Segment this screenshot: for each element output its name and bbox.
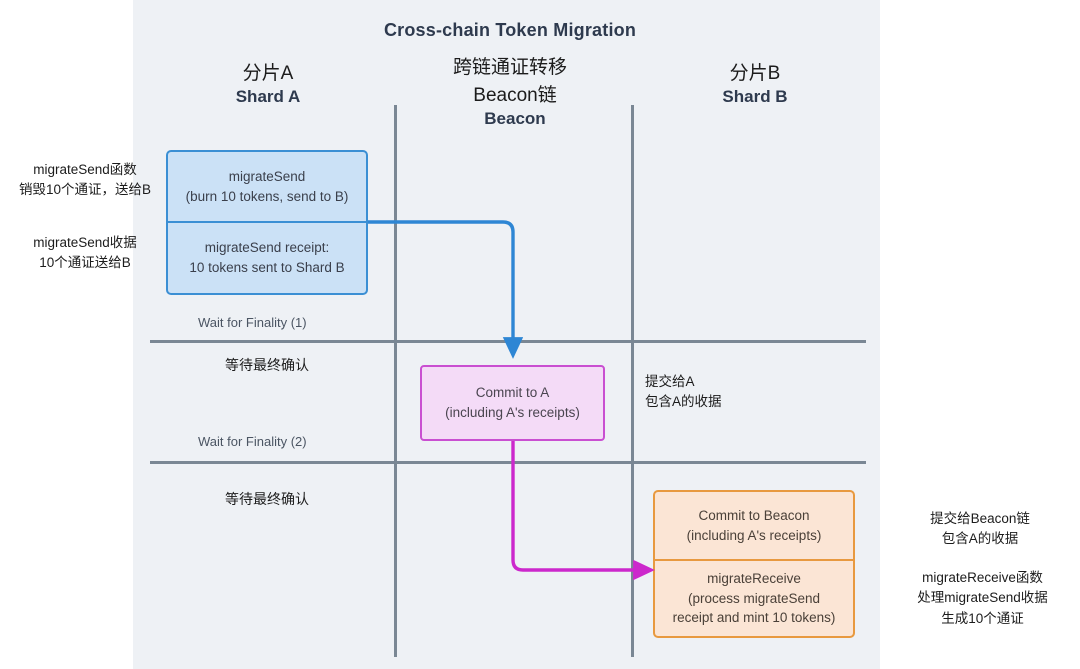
phase-divider-1 (150, 340, 866, 343)
column-header-beacon: Beacon链 Beacon (415, 84, 615, 129)
column-header-shard-b: 分片B Shard B (655, 62, 855, 107)
node-commit-to-beacon-line2: (including A's receipts) (687, 526, 822, 546)
node-commit-to-beacon-line1: Commit to Beacon (698, 506, 809, 526)
node-migrate-receive-line1: migrateReceive (707, 569, 801, 589)
annotation-migrate-receive-line3: 生成10个通证 (890, 609, 1075, 629)
annotation-commit-to-beacon-line2: 包含A的收据 (890, 529, 1070, 549)
node-migrate-send-line2: (burn 10 tokens, send to B) (186, 187, 349, 207)
node-migrate-receive[interactable]: migrateReceive (process migrateSend rece… (653, 560, 855, 638)
node-migrate-receive-line2: (process migrateSend (688, 589, 820, 609)
column-header-beacon-cn: Beacon链 (415, 84, 615, 108)
annotation-migrate-receive-line1: migrateReceive函数 (890, 568, 1075, 588)
label-wait-for-finality-2-cn: 等待最终确认 (225, 489, 309, 509)
annotation-commit-to-beacon: 提交给Beacon链 包含A的收据 (890, 509, 1070, 550)
phase-divider-2 (150, 461, 866, 464)
diagram-canvas: Cross-chain Token Migration 跨链通证转移 分片A S… (0, 0, 1080, 669)
node-migrate-send-receipt[interactable]: migrateSend receipt: 10 tokens sent to S… (166, 222, 368, 295)
node-migrate-send-receipt-line1: migrateSend receipt: (205, 238, 330, 258)
node-migrate-send[interactable]: migrateSend (burn 10 tokens, send to B) (166, 150, 368, 222)
column-header-beacon-en: Beacon (415, 108, 615, 129)
lane-divider-shard-a-beacon (394, 105, 397, 657)
page-title: Cross-chain Token Migration (280, 20, 740, 41)
annotation-commit-to-beacon-line1: 提交给Beacon链 (890, 509, 1070, 529)
node-commit-to-beacon[interactable]: Commit to Beacon (including A's receipts… (653, 490, 855, 560)
annotation-migrate-send-receipt-line2: 10个通证送给B (10, 253, 160, 273)
node-commit-to-a-line2: (including A's receipts) (445, 403, 580, 423)
annotation-migrate-send: migrateSend函数 销毁10个通证，送给B (10, 160, 160, 201)
node-migrate-send-receipt-line2: 10 tokens sent to Shard B (189, 258, 344, 278)
column-header-shard-b-en: Shard B (655, 86, 855, 107)
annotation-commit-to-a-line1: 提交给A (645, 372, 785, 392)
label-wait-for-finality-1-cn: 等待最终确认 (225, 355, 309, 375)
column-header-shard-a-cn: 分片A (168, 62, 368, 86)
annotation-migrate-send-line1: migrateSend函数 (10, 160, 160, 180)
annotation-migrate-receive: migrateReceive函数 处理migrateSend收据 生成10个通证 (890, 568, 1075, 629)
lane-divider-beacon-shard-b (631, 105, 634, 657)
page-subtitle-cn: 跨链通证转移 (320, 52, 700, 79)
node-migrate-send-line1: migrateSend (229, 167, 306, 187)
annotation-migrate-send-receipt: migrateSend收据 10个通证送给B (10, 233, 160, 274)
node-commit-to-a[interactable]: Commit to A (including A's receipts) (420, 365, 605, 441)
column-header-shard-b-cn: 分片B (655, 62, 855, 86)
node-migrate-receive-line3: receipt and mint 10 tokens) (673, 608, 836, 628)
annotation-commit-to-a: 提交给A 包含A的收据 (645, 372, 785, 413)
column-header-shard-a: 分片A Shard A (168, 62, 368, 107)
label-wait-for-finality-1: Wait for Finality (1) (198, 315, 307, 330)
annotation-migrate-receive-line2: 处理migrateSend收据 (890, 588, 1075, 608)
label-wait-for-finality-2: Wait for Finality (2) (198, 434, 307, 449)
column-header-shard-a-en: Shard A (168, 86, 368, 107)
annotation-commit-to-a-line2: 包含A的收据 (645, 392, 785, 412)
annotation-migrate-send-line2: 销毁10个通证，送给B (10, 180, 160, 200)
node-commit-to-a-line1: Commit to A (476, 383, 550, 403)
annotation-migrate-send-receipt-line1: migrateSend收据 (10, 233, 160, 253)
